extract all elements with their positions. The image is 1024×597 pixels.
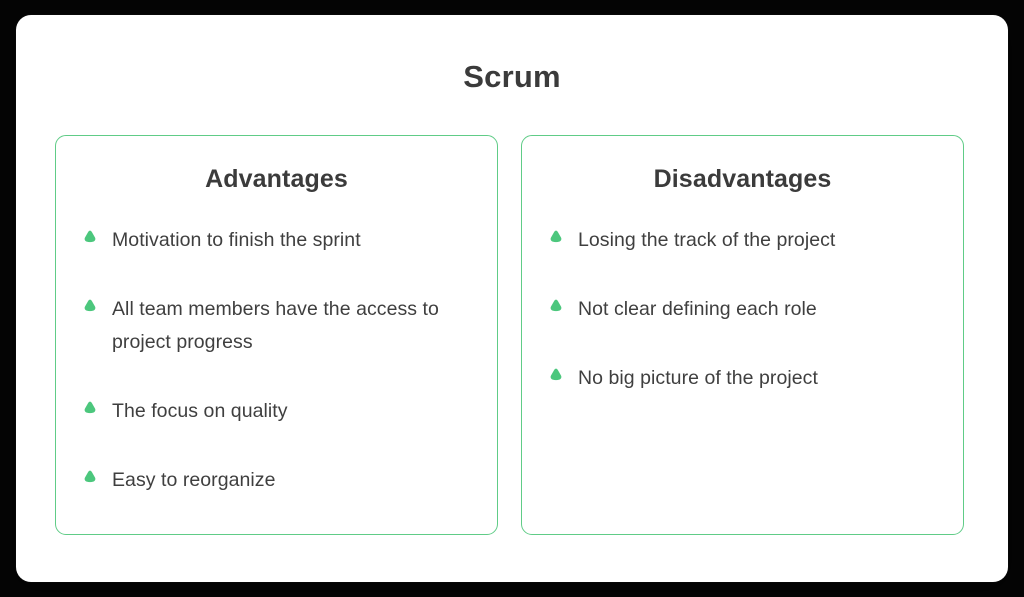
page-title: Scrum	[16, 59, 1008, 95]
panel-disadvantages: Disadvantages Losing the track of the pr…	[521, 135, 964, 535]
list-item-label: Easy to reorganize	[112, 464, 276, 497]
triangle-bullet-icon	[83, 464, 97, 488]
triangle-bullet-icon	[549, 362, 563, 386]
triangle-bullet-icon	[83, 395, 97, 419]
list-item: Losing the track of the project	[549, 224, 937, 257]
list-item: All team members have the access to proj…	[83, 293, 471, 359]
panel-advantages-heading: Advantages	[56, 165, 497, 194]
list-item: Not clear defining each role	[549, 293, 937, 326]
triangle-bullet-icon	[549, 293, 563, 317]
slide-frame: Scrum Advantages Motivation to finish th…	[0, 0, 1024, 597]
list-item-label: Not clear defining each role	[578, 293, 817, 326]
list-item: Easy to reorganize	[83, 464, 471, 497]
slide-card: Scrum Advantages Motivation to finish th…	[16, 15, 1008, 582]
panel-disadvantages-heading: Disadvantages	[522, 165, 963, 194]
list-item-label: The focus on quality	[112, 395, 288, 428]
list-item-label: Motivation to finish the sprint	[112, 224, 361, 257]
list-item: Motivation to finish the sprint	[83, 224, 471, 257]
list-item: No big picture of the project	[549, 362, 937, 395]
list-item-label: No big picture of the project	[578, 362, 818, 395]
triangle-bullet-icon	[83, 293, 97, 317]
list-item: The focus on quality	[83, 395, 471, 428]
triangle-bullet-icon	[549, 224, 563, 248]
advantages-list: Motivation to finish the sprintAll team …	[56, 224, 497, 497]
disadvantages-list: Losing the track of the projectNot clear…	[522, 224, 963, 395]
triangle-bullet-icon	[83, 224, 97, 248]
list-item-label: All team members have the access to proj…	[112, 293, 471, 359]
panel-advantages: Advantages Motivation to finish the spri…	[55, 135, 498, 535]
list-item-label: Losing the track of the project	[578, 224, 835, 257]
